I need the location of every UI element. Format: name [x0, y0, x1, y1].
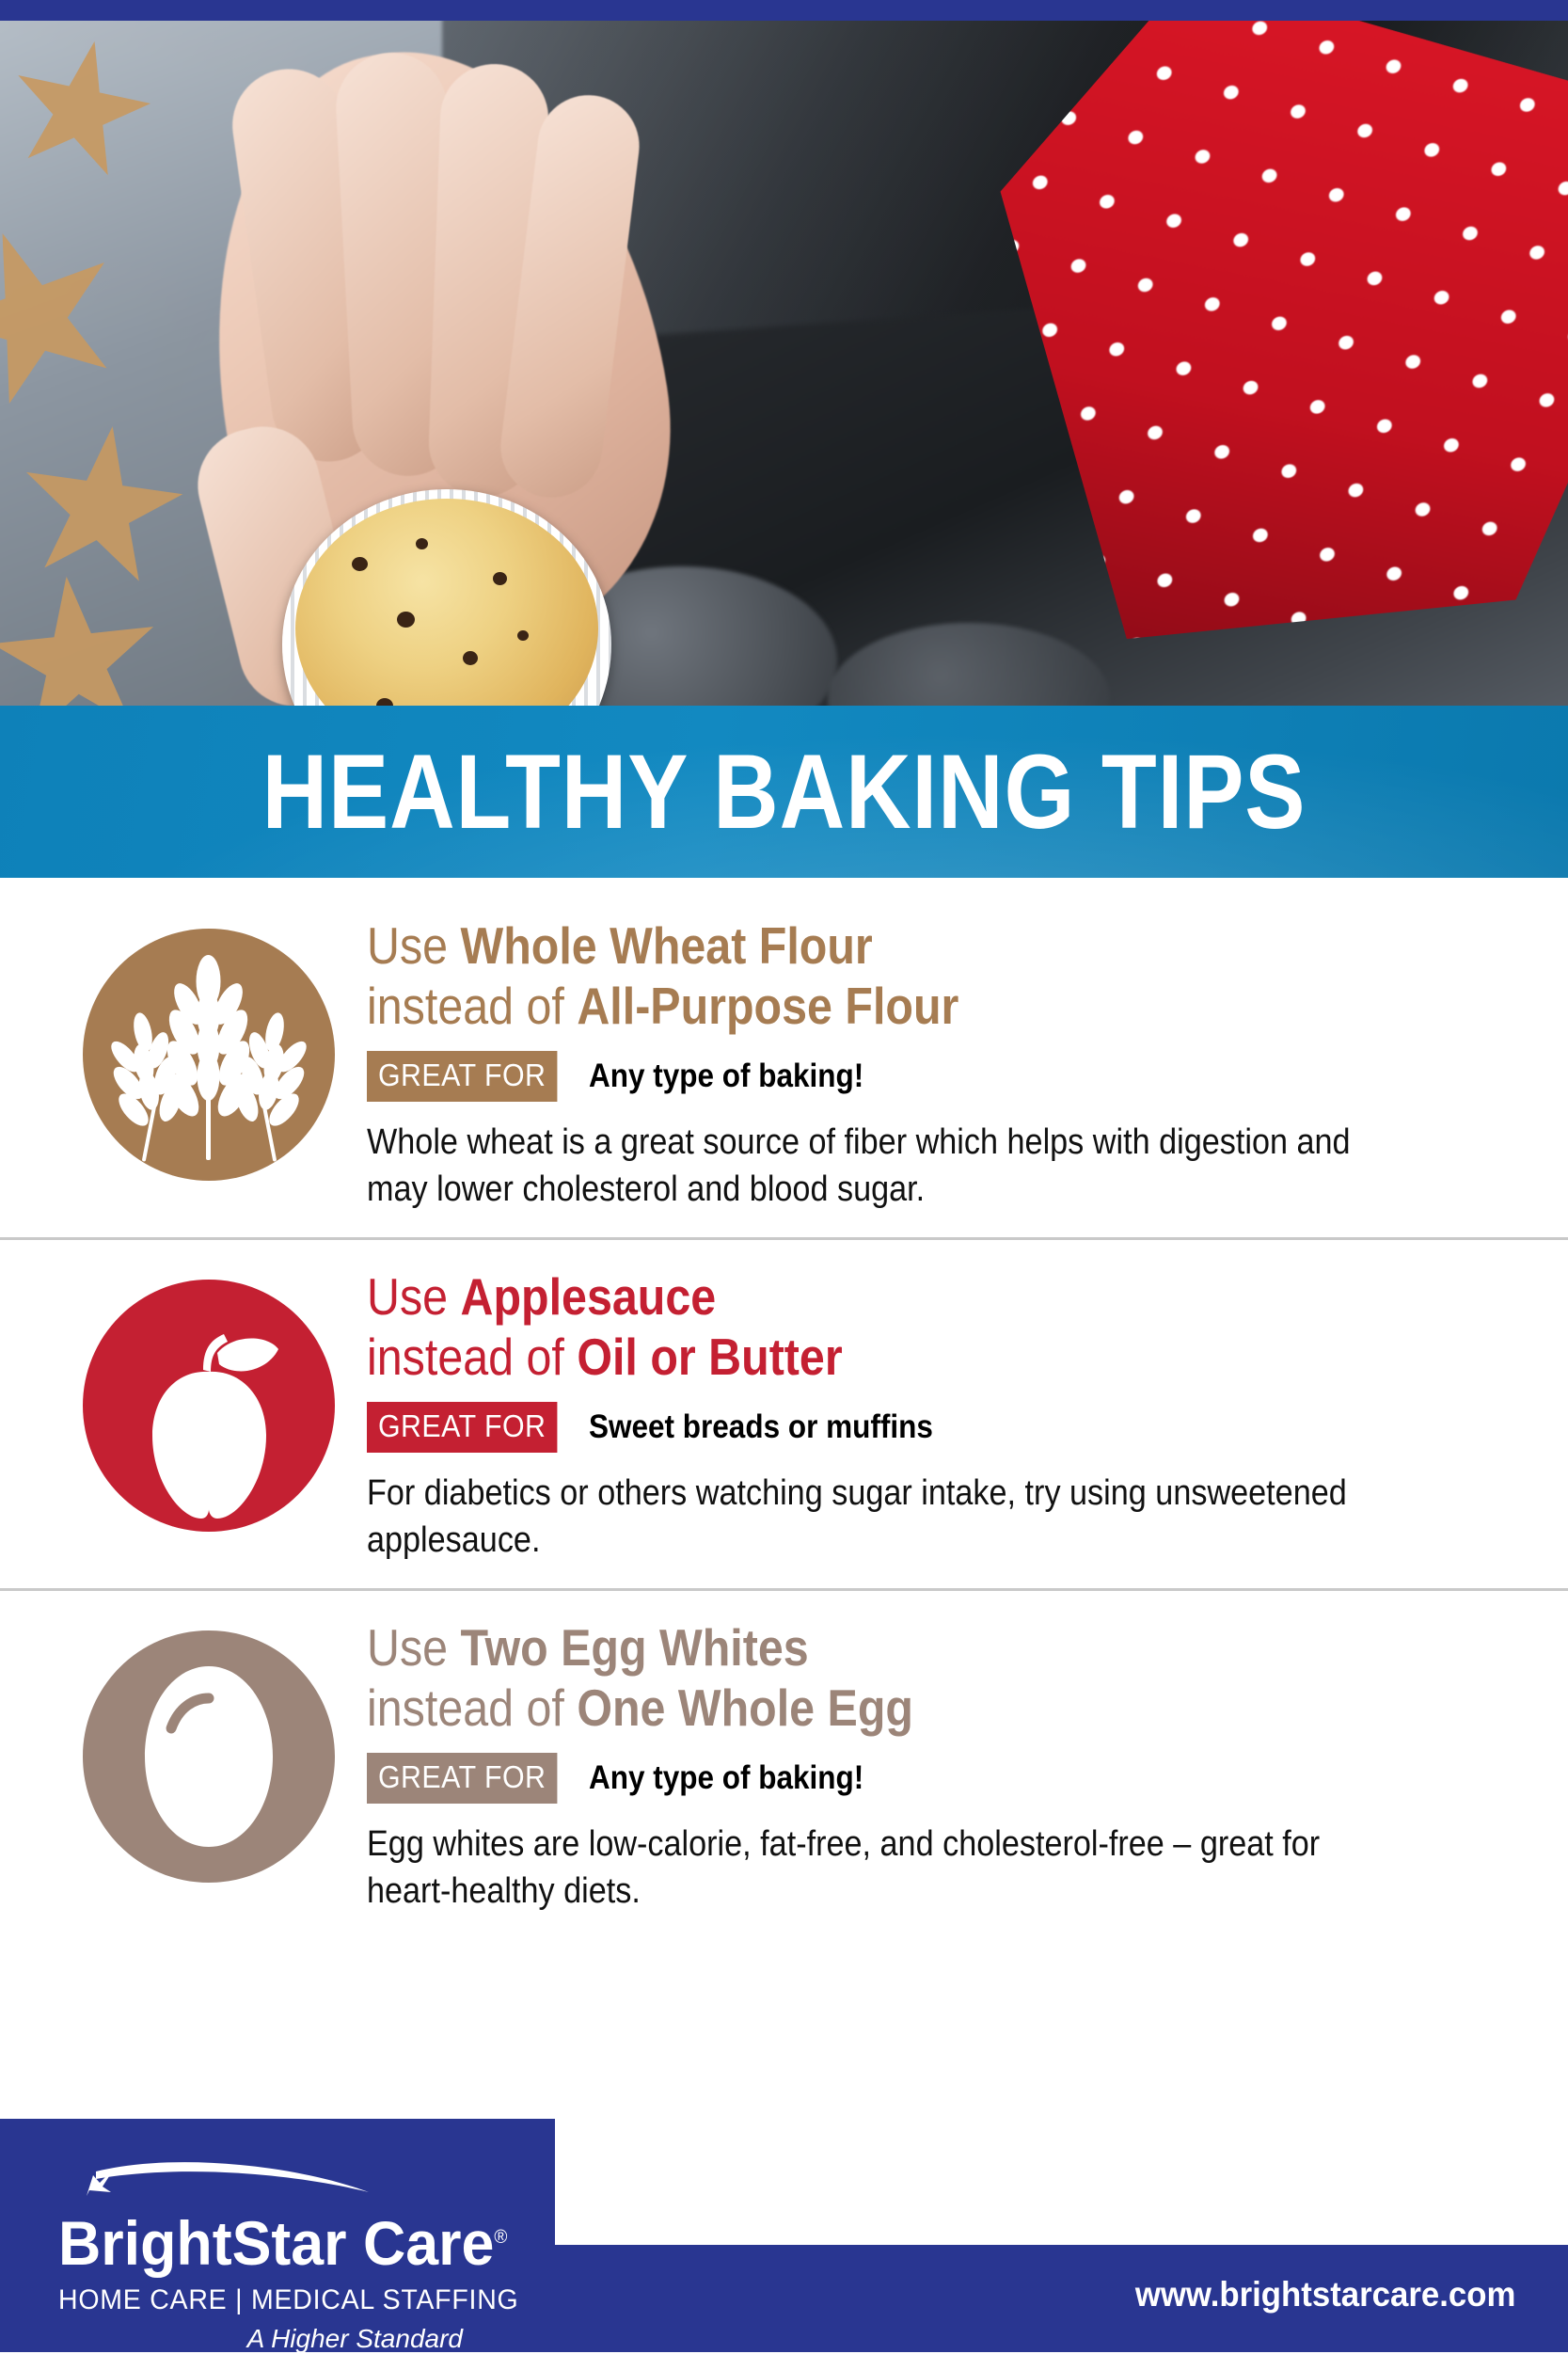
- brand-wordmark: BrightStar Care®: [58, 2203, 505, 2277]
- tip-headline-line1: Use Two Egg Whites: [367, 1617, 1331, 1678]
- great-for-row: GREAT FOR Sweet breads or muffins: [367, 1402, 1463, 1453]
- brand-logo: BrightStar Care® HOME CARE | MEDICAL STA…: [58, 2158, 529, 2354]
- tip-description: Egg whites are low-calorie, fat-free, an…: [367, 1821, 1354, 1915]
- chocolate-chip: [397, 612, 415, 628]
- great-for-value: Any type of baking!: [589, 1058, 863, 1095]
- tip-icon-container: [68, 915, 350, 1213]
- chocolate-chip: [352, 557, 368, 571]
- tip-description: For diabetics or others watching sugar i…: [367, 1470, 1354, 1564]
- star-swoosh-icon: [58, 2158, 529, 2203]
- tips-list: Use Whole Wheat Flour instead of All-Pur…: [0, 889, 1568, 1939]
- tip-description: Whole wheat is a great source of fiber w…: [367, 1119, 1354, 1213]
- chocolate-chip: [463, 651, 478, 665]
- registered-mark: ®: [494, 2227, 507, 2248]
- great-for-badge: GREAT FOR: [367, 1402, 557, 1453]
- tip-item-egg-whites: Use Two Egg Whites instead of One Whole …: [0, 1588, 1568, 1939]
- tip-body: Use Applesauce instead of Oil or Butter …: [350, 1266, 1500, 1564]
- tip-item-applesauce: Use Applesauce instead of Oil or Butter …: [0, 1237, 1568, 1588]
- great-for-value: Sweet breads or muffins: [589, 1408, 933, 1446]
- tip-headline-line2: instead of All-Purpose Flour: [367, 976, 1331, 1036]
- great-for-row: GREAT FOR Any type of baking!: [367, 1051, 1463, 1102]
- tip-headline-line1: Use Applesauce: [367, 1266, 1331, 1327]
- brand-services: HOME CARE | MEDICAL STAFFING: [58, 2284, 505, 2316]
- great-for-row: GREAT FOR Any type of baking!: [367, 1753, 1463, 1804]
- tip-headline-line1: Use Whole Wheat Flour: [367, 915, 1331, 976]
- title-band: HEALTHY BAKING TIPS: [0, 706, 1568, 878]
- brand-tagline: A Higher Standard: [58, 2324, 463, 2354]
- top-navy-rule: [0, 0, 1568, 21]
- brand-logo-block[interactable]: BrightStar Care® HOME CARE | MEDICAL STA…: [0, 2119, 555, 2352]
- tip-body: Use Whole Wheat Flour instead of All-Pur…: [350, 915, 1500, 1213]
- page-title: HEALTHY BAKING TIPS: [110, 706, 1459, 878]
- hero-photo: [0, 21, 1568, 706]
- chocolate-chip: [416, 538, 428, 549]
- wheat-icon: [83, 929, 335, 1181]
- chocolate-chip: [517, 630, 529, 641]
- egg-icon: [83, 1630, 335, 1883]
- chocolate-chip: [493, 572, 507, 585]
- muffin: [282, 489, 611, 706]
- great-for-badge: GREAT FOR: [367, 1051, 557, 1102]
- tip-headline-line2: instead of One Whole Egg: [367, 1678, 1331, 1738]
- footer-website-url[interactable]: www.brightstarcare.com: [1134, 2275, 1515, 2314]
- apple-icon: [83, 1280, 335, 1532]
- star-swoosh-svg: [58, 2158, 453, 2203]
- tip-icon-container: [68, 1266, 350, 1564]
- chocolate-chip: [376, 698, 393, 706]
- tip-headline-line2: instead of Oil or Butter: [367, 1327, 1331, 1387]
- tip-icon-container: [68, 1617, 350, 1915]
- tip-item-whole-wheat-flour: Use Whole Wheat Flour instead of All-Pur…: [0, 889, 1568, 1237]
- great-for-badge: GREAT FOR: [367, 1753, 557, 1804]
- tip-body: Use Two Egg Whites instead of One Whole …: [350, 1617, 1500, 1915]
- great-for-value: Any type of baking!: [589, 1759, 863, 1797]
